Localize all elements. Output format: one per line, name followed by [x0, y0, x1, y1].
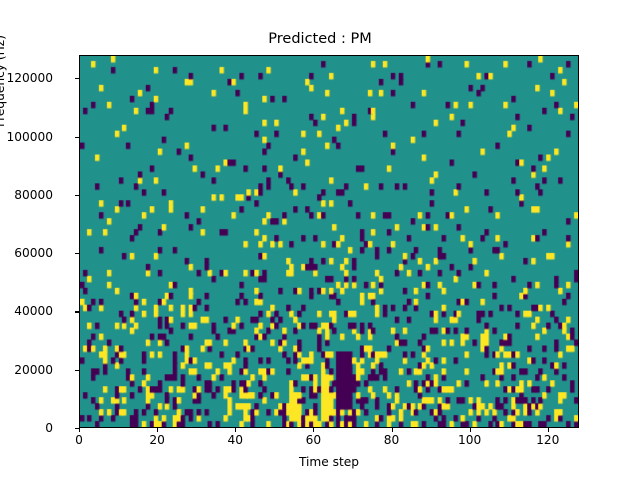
y-tick-mark — [75, 370, 79, 371]
x-tick-mark — [235, 428, 236, 432]
y-tick-label: 60000 — [0, 247, 53, 259]
y-tick-label: 80000 — [0, 189, 53, 201]
x-tick-label: 20 — [127, 433, 187, 447]
x-tick-mark — [392, 428, 393, 432]
x-tick-mark — [470, 428, 471, 432]
x-tick-label: 80 — [362, 433, 422, 447]
y-tick-mark — [75, 253, 79, 254]
y-tick-mark — [75, 78, 79, 79]
y-tick-mark — [75, 137, 79, 138]
x-tick-label: 120 — [518, 433, 578, 447]
y-tick-mark — [75, 195, 79, 196]
y-tick-label: 20000 — [0, 364, 53, 376]
x-tick-label: 100 — [440, 433, 500, 447]
heatmap-axes[interactable] — [79, 55, 579, 428]
y-axis-label: Frequency (Hz) — [0, 0, 7, 181]
x-axis-label: Time step — [79, 455, 579, 469]
figure-canvas: Predicted : PM Frequency (Hz) Time step … — [0, 0, 640, 480]
x-tick-label: 60 — [283, 433, 343, 447]
y-tick-mark — [75, 311, 79, 312]
y-tick-label: 40000 — [0, 305, 53, 317]
y-tick-label: 100000 — [0, 131, 53, 143]
y-tick-label: 0 — [0, 422, 53, 434]
y-tick-label: 120000 — [0, 72, 53, 84]
heatmap-image — [80, 56, 578, 427]
x-tick-label: 40 — [205, 433, 265, 447]
page-title: Predicted : PM — [0, 30, 640, 48]
x-tick-label: 0 — [49, 433, 109, 447]
x-tick-mark — [157, 428, 158, 432]
x-tick-mark — [313, 428, 314, 432]
x-tick-mark — [79, 428, 80, 432]
x-tick-mark — [548, 428, 549, 432]
